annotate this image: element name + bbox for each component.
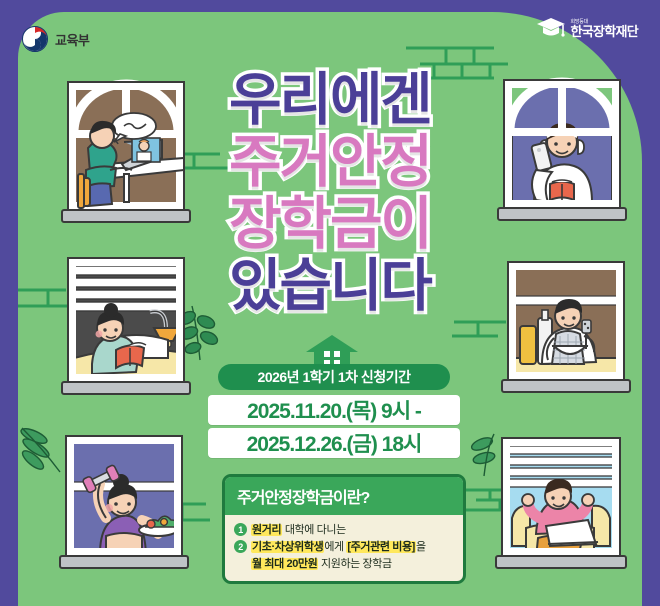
info-item-1-post: 대학에 다니는 [282, 524, 346, 536]
info-item-1-highlight: 원거리 [251, 524, 282, 536]
window-phone-music [494, 74, 630, 226]
application-start-date: 2025.11.20.(목) 9시 - [208, 395, 460, 425]
window-study-laptop [58, 78, 194, 226]
info-item-2-post: 을 [416, 541, 426, 553]
list-number-2: 2 [234, 540, 247, 553]
title-line-4: 있습니다 [196, 258, 464, 315]
list-number-1: 1 [234, 523, 247, 536]
application-end-date: 2025.12.26.(금) 18시 [208, 428, 460, 458]
window-reading-lamp [58, 254, 194, 400]
title-line-3: 장학금이 [196, 196, 464, 253]
window-exercise [54, 430, 194, 580]
info-card-heading: 주거안정장학금이란? [225, 477, 463, 515]
info-item-2-highlight: 기초·차상위학생 [251, 541, 324, 553]
window-cooking [498, 258, 634, 404]
ministry-of-education-logo: 교육부 [22, 26, 89, 52]
info-list-item-2: 2 기초·차상위학생에게 [주거관련 비용]을 [234, 539, 454, 555]
poster-title: 우리에겐 주거안정 장학금이 있습니다 [196, 72, 464, 320]
info-card-body: 1 원거리 대학에 다니는 2 기초·차상위학생에게 [주거관련 비용]을 월 … [225, 515, 463, 581]
ministry-label: 교육부 [55, 30, 89, 49]
window-celebrate [492, 434, 630, 582]
info-line2-post: 지원하는 장학금 [318, 558, 391, 570]
info-item-2-text: 기초·차상위학생에게 [주거관련 비용]을 [251, 539, 426, 555]
info-item-2-mid: 에게 [324, 541, 346, 553]
foundation-label: 한국장학재단 [570, 25, 638, 38]
taegeuk-logo-icon [22, 26, 48, 52]
info-line2-highlight: 월 최대 20만원 [251, 558, 318, 570]
info-item-1-text: 원거리 대학에 다니는 [251, 522, 346, 538]
info-list-item-1: 1 원거리 대학에 다니는 [234, 522, 454, 538]
graduation-cap-icon [536, 16, 566, 38]
application-period-pill: 2026년 1학기 1차 신청기간 [218, 364, 450, 390]
korea-student-aid-foundation-logo: 희망등대 한국장학재단 [536, 16, 638, 38]
title-line-1: 우리에겐 [196, 72, 464, 129]
info-list-item-2-line-2: 월 최대 20만원 지원하는 장학금 [234, 556, 454, 572]
title-line-2: 주거안정 [196, 134, 464, 191]
scholarship-info-card: 주거안정장학금이란? 1 원거리 대학에 다니는 2 기초·차상위학생에게 [주… [222, 474, 466, 584]
info-item-2-highlight-2: [주거관련 비용] [346, 541, 416, 553]
poster-root: 교육부 희망등대 한국장학재단 우리에겐 주거안정 장학금이 있습니다 2026… [0, 0, 660, 606]
